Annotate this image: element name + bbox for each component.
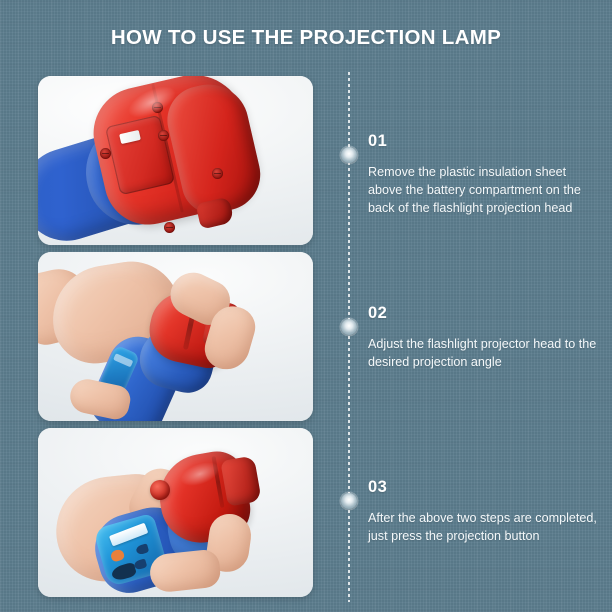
step-description-01: Remove the plastic insulation sheet abov…	[368, 164, 600, 218]
step-number-01: 01	[368, 132, 600, 150]
sticker-whale-icon	[110, 562, 137, 582]
screw-icon	[212, 168, 223, 179]
timeline-bullet-02	[341, 319, 357, 335]
timeline-bullet-03	[341, 493, 357, 509]
projection-lamp-instruction-infographic: HOW TO USE THE PROJECTION LAMP	[0, 0, 612, 612]
step-photo-card-02	[38, 252, 313, 421]
product-photo-pressing-button	[38, 428, 313, 597]
product-photo-battery-compartment	[38, 76, 313, 245]
step-description-02: Adjust the flashlight projector head to …	[368, 336, 600, 372]
step-text-block-03: 03 After the above two steps are complet…	[368, 478, 600, 546]
page-title: HOW TO USE THE PROJECTION LAMP	[0, 26, 612, 50]
screw-icon	[164, 222, 175, 233]
step-photo-card-03	[38, 428, 313, 597]
timeline-bullet-01	[341, 147, 357, 163]
screw-icon	[100, 148, 111, 159]
sticker-fish-icon	[135, 543, 149, 555]
sticker-light-wordmark	[109, 523, 148, 547]
step-description-03: After the above two steps are completed,…	[368, 510, 600, 546]
sticker-crab-icon	[110, 548, 126, 562]
step-number-02: 02	[368, 304, 600, 322]
step-photo-card-01	[38, 76, 313, 245]
step-number-03: 03	[368, 478, 600, 496]
product-photo-adjusting-head	[38, 252, 313, 421]
step-text-block-02: 02 Adjust the flashlight projector head …	[368, 304, 600, 372]
projection-button[interactable]	[150, 480, 170, 500]
screw-icon	[158, 130, 169, 141]
step-text-block-01: 01 Remove the plastic insulation sheet a…	[368, 132, 600, 218]
